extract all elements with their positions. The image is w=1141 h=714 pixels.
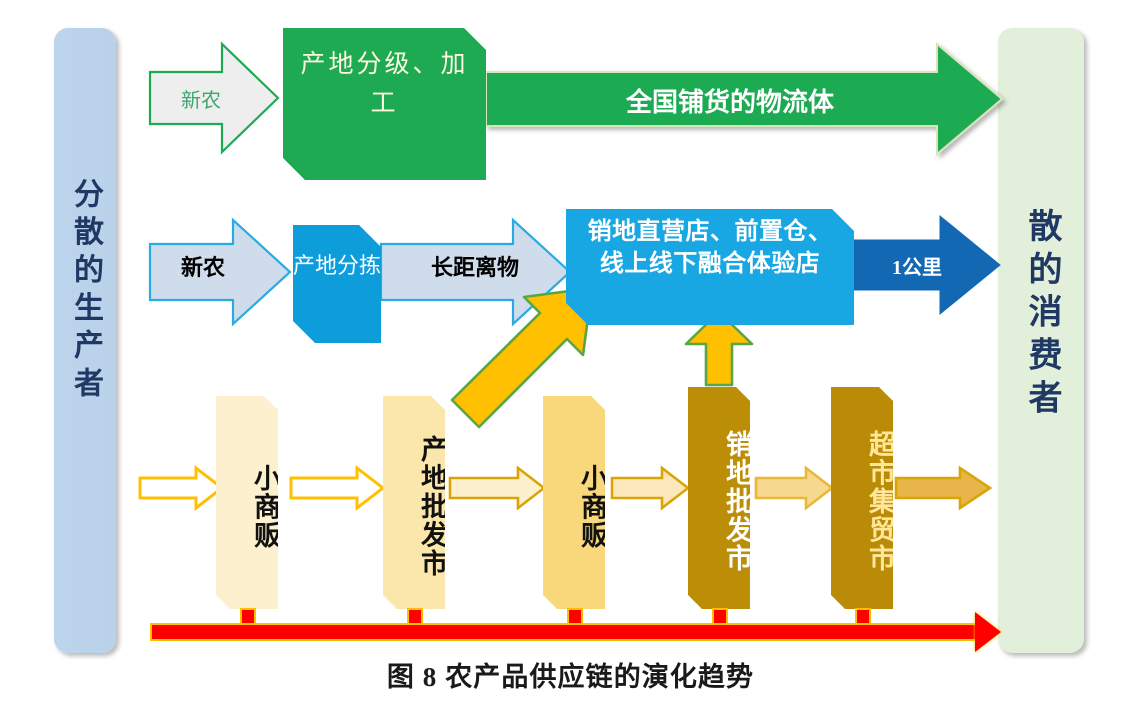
arrow-chain-2 <box>291 468 383 508</box>
node-origin-grading-label: 产地分级、加工 <box>297 46 472 124</box>
node-origin-grading[interactable]: 产地分级、加工 <box>283 28 486 180</box>
arrow-label-last-mile: 1公里 <box>874 245 960 285</box>
arrow-chain-1 <box>140 468 222 508</box>
node-origin-sorting[interactable]: 产地分拣 <box>293 225 381 343</box>
arrow-label-national-logistics: 全国铺货的物流体 <box>520 80 940 120</box>
arrow-chain-4 <box>612 468 688 508</box>
diagram-canvas: 分散的生产者 散的消费者 <box>0 0 1141 714</box>
arrow-chain-6 <box>896 468 990 508</box>
node-origin-wholesale-label: 产地批发市 <box>417 435 445 578</box>
consumer-panel-label: 散的消费者 <box>1024 28 1058 422</box>
node-sales-wholesale-label: 销地批发市 <box>722 430 750 573</box>
arrow-label-long-distance: 长距离物 <box>400 246 550 286</box>
producer-panel-label: 分散的生产者 <box>70 28 100 405</box>
arrow-label-xinnong-top: 新农 <box>160 78 242 118</box>
node-small-vendor-1[interactable]: 小商贩 <box>216 396 278 609</box>
node-retail-store-label: 销地直营店、前置仓、线上线下融合体验店 <box>576 217 844 280</box>
figure-caption: 图 8 农产品供应链的演化趋势 <box>0 655 1141 694</box>
evolution-timeline-bar <box>150 623 990 641</box>
evolution-timeline-arrowhead <box>975 612 1001 652</box>
node-supermarket-market-label: 超市集贸市 <box>865 430 893 573</box>
node-sales-wholesale[interactable]: 销地批发市 <box>688 387 750 609</box>
node-small-vendor-1-label: 小商贩 <box>250 464 278 550</box>
node-retail-store[interactable]: 销地直营店、前置仓、线上线下融合体验店 <box>566 209 854 325</box>
node-supermarket-market[interactable]: 超市集贸市 <box>831 387 893 609</box>
arrow-chain-5 <box>756 468 832 508</box>
arrow-label-xinnong-middle: 新农 <box>160 246 246 286</box>
node-small-vendor-2-label: 小商贩 <box>577 464 605 550</box>
arrow-chain-3 <box>450 468 544 508</box>
node-small-vendor-2[interactable]: 小商贩 <box>543 396 605 609</box>
node-origin-sorting-label: 产地分拣 <box>293 251 381 281</box>
node-origin-wholesale[interactable]: 产地批发市 <box>383 396 445 609</box>
consumer-panel: 散的消费者 <box>998 28 1084 653</box>
producer-panel: 分散的生产者 <box>54 28 116 653</box>
